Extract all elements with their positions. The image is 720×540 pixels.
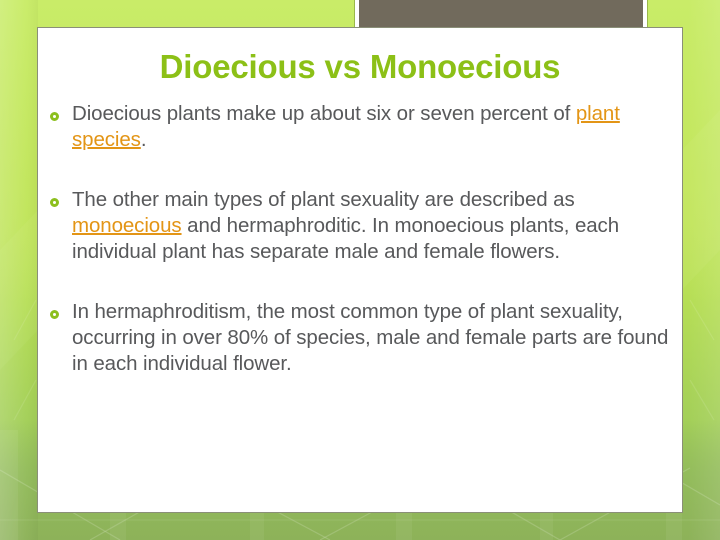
ring-bullet-glyph [50, 112, 59, 121]
list-item-text: Dioecious plants make up about six or se… [72, 101, 672, 153]
text-segment: Dioecious plants make up about six or se… [72, 102, 576, 125]
bullet-list: Dioecious plants make up about six or se… [50, 101, 672, 377]
text-segment: In hermaphroditism, the most common type… [72, 300, 668, 375]
slide-title: Dioecious vs Monoecious [38, 50, 682, 85]
presentation-slide: Dioecious vs Monoecious Dioecious plants… [0, 0, 720, 540]
list-item: The other main types of plant sexuality … [50, 187, 672, 265]
ring-bullet-glyph [50, 310, 59, 319]
hyperlink-monoecious[interactable]: monoecious [72, 214, 182, 237]
ring-bullet-glyph [50, 198, 59, 207]
content-card: Dioecious vs Monoecious Dioecious plants… [37, 27, 683, 513]
text-segment: The other main types of plant sexuality … [72, 188, 575, 211]
ring-bullet-icon [50, 187, 72, 212]
list-item-text: The other main types of plant sexuality … [72, 187, 672, 265]
list-item: In hermaphroditism, the most common type… [50, 299, 672, 377]
ring-bullet-icon [50, 101, 72, 126]
list-item: Dioecious plants make up about six or se… [50, 101, 672, 153]
ring-bullet-icon [50, 299, 72, 324]
text-segment: . [141, 128, 147, 151]
list-item-text: In hermaphroditism, the most common type… [72, 299, 672, 377]
